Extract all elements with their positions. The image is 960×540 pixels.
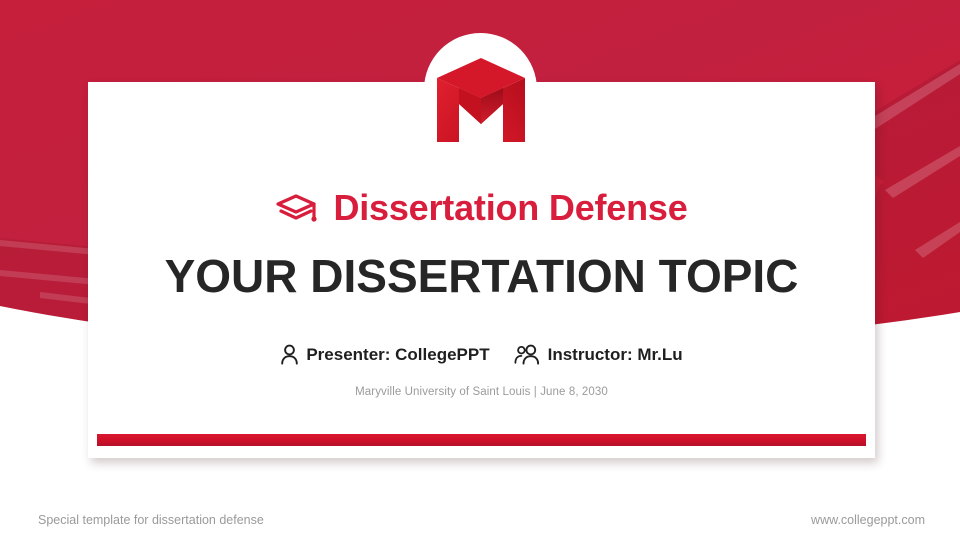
card-accent-bar <box>97 434 866 446</box>
eyebrow-label: Dissertation Defense <box>333 190 687 226</box>
credit-presenter: Presenter: CollegePPT <box>280 344 489 365</box>
credit-instructor: Instructor: Mr.Lu <box>514 344 683 365</box>
credits-row: Presenter: CollegePPT Instructor: Mr.Lu <box>88 344 875 365</box>
footer-website: www.collegeppt.com <box>811 513 925 527</box>
event-caption: Maryville University of Saint Louis | Ju… <box>88 386 875 398</box>
credit-instructor-label: Instructor: Mr.Lu <box>548 346 683 363</box>
graduation-cap-icon <box>275 192 321 226</box>
presentation-slide: Dissertation Defense YOUR DISSERTATION T… <box>0 0 960 540</box>
person-icon <box>280 344 299 365</box>
eyebrow-heading: Dissertation Defense <box>88 189 875 226</box>
maryville-m-logo <box>431 52 531 142</box>
people-icon <box>514 344 541 365</box>
credit-presenter-label: Presenter: CollegePPT <box>306 346 489 363</box>
page-title: YOUR DISSERTATION TOPIC <box>88 250 875 303</box>
footer-note: Special template for dissertation defens… <box>38 513 264 527</box>
